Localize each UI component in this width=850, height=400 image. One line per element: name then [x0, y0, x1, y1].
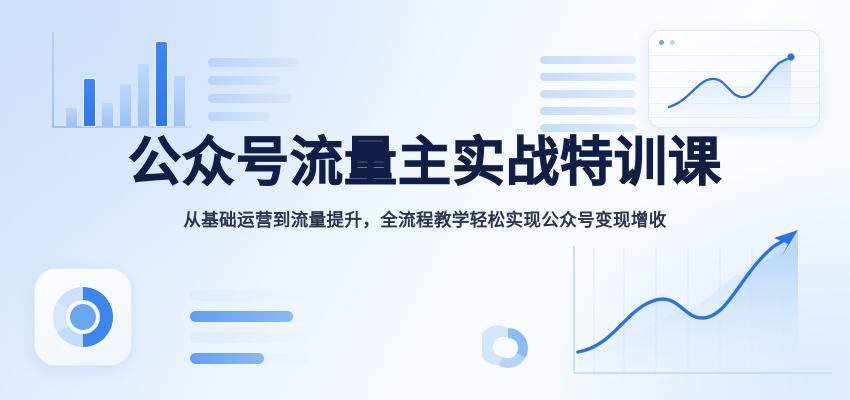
placeholder-line	[540, 56, 636, 64]
placeholder-line	[208, 94, 292, 103]
line-chart-endpoint	[787, 53, 794, 60]
donut-center	[70, 304, 96, 330]
progress-bar-fill	[190, 311, 293, 322]
bar-chart-y-axis	[52, 32, 54, 128]
placeholder-line	[540, 107, 636, 115]
course-banner: 公众号流量主实战特训课 从基础运营到流量提升，全流程教学轻松实现公众号变现增收	[0, 0, 850, 400]
bar-chart-bar	[174, 76, 185, 126]
growth-arrow-chart	[560, 230, 842, 395]
line-chart-svg	[649, 31, 819, 127]
bar-chart	[52, 32, 192, 128]
text-placeholder-lines	[208, 58, 298, 130]
text-placeholder-lines	[540, 56, 636, 141]
line-chart-card	[648, 30, 820, 128]
donut-chart-card	[34, 268, 132, 366]
bar-chart-bar	[66, 108, 77, 126]
progress-bar-row	[190, 332, 310, 343]
page-title: 公众号流量主实战特训课	[0, 136, 850, 189]
bar-chart-bar	[156, 42, 167, 126]
placeholder-line	[540, 90, 636, 98]
progress-bar-row	[190, 353, 310, 364]
placeholder-line	[208, 58, 298, 67]
bar-chart-bar	[120, 84, 131, 126]
line-chart-area	[669, 57, 791, 117]
bar-chart-bar	[138, 64, 149, 126]
progress-bar-list	[190, 290, 310, 374]
bar-chart-bar	[102, 103, 113, 126]
bar-chart-bar	[84, 79, 95, 126]
placeholder-line	[540, 73, 636, 81]
progress-bar-row	[190, 311, 310, 322]
banner-text-block: 公众号流量主实战特训课 从基础运营到流量提升，全流程教学轻松实现公众号变现增收	[0, 136, 850, 232]
placeholder-line	[540, 124, 636, 132]
bar-chart-x-axis	[52, 126, 192, 128]
placeholder-line	[208, 76, 280, 85]
donut-segment	[508, 328, 528, 358]
small-donut-chart	[482, 322, 534, 379]
donut-chart-icon	[47, 281, 119, 353]
placeholder-line	[208, 112, 270, 121]
page-subtitle: 从基础运营到流量提升，全流程教学轻松实现公众号变现增收	[0, 207, 850, 232]
progress-bar-fill	[190, 353, 264, 364]
progress-bar-row	[190, 290, 310, 301]
